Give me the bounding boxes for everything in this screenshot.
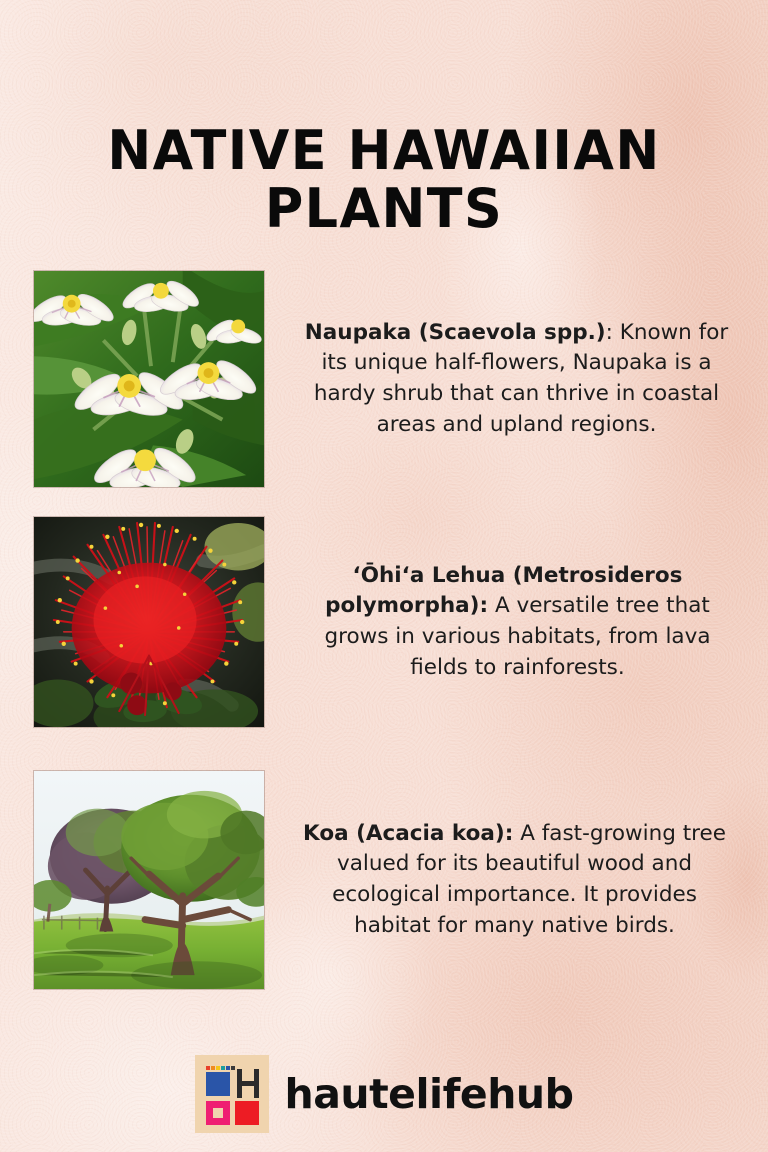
koa-photo bbox=[33, 770, 265, 990]
naupaka-lead: Naupaka (Scaevola spp.) bbox=[305, 320, 606, 345]
naupaka-separator: : bbox=[606, 320, 620, 345]
naupaka-photo bbox=[33, 270, 265, 488]
koa-description: Koa (Acacia koa): A fast-growing tree va… bbox=[265, 819, 742, 941]
entry-row-koa: Koa (Acacia koa): A fast-growing tree va… bbox=[33, 770, 742, 990]
ohia-lehua-description: ʻŌhiʻa Lehua (Metrosideros polymorpha): … bbox=[265, 561, 742, 683]
entry-row-naupaka: Naupaka (Scaevola spp.): Known for its u… bbox=[33, 270, 742, 488]
naupaka-description: Naupaka (Scaevola spp.): Known for its u… bbox=[265, 318, 742, 440]
brand-footer: hautelifehub bbox=[0, 1055, 768, 1133]
hautelifehub-logo-icon bbox=[195, 1055, 269, 1133]
poster-canvas: NATIVE HAWAIIAN PLANTS bbox=[0, 0, 768, 1152]
page-title: NATIVE HAWAIIAN PLANTS bbox=[12, 122, 757, 239]
entry-row-ohia-lehua: ʻŌhiʻa Lehua (Metrosideros polymorpha): … bbox=[33, 516, 742, 728]
ohia-lehua-photo bbox=[33, 516, 265, 728]
koa-lead: Koa (Acacia koa): bbox=[303, 821, 513, 846]
brand-name: hautelifehub bbox=[285, 1074, 574, 1115]
ohia-lehua-separator bbox=[488, 593, 495, 618]
